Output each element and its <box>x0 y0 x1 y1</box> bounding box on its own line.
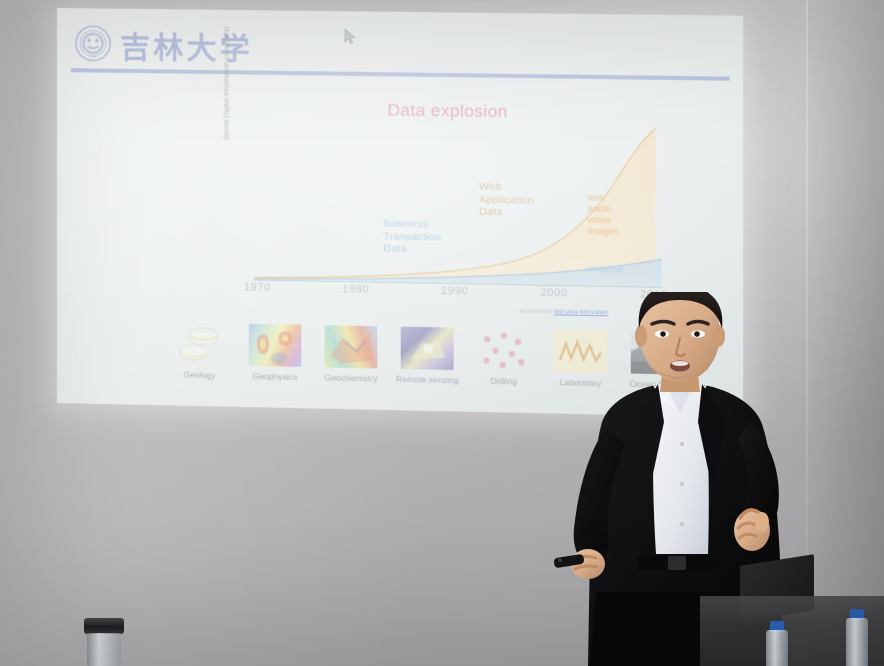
annotation-business-transaction-data: BusinessTransactionData <box>383 217 441 256</box>
annotation-relational: relational <box>588 263 623 276</box>
ear-left <box>635 325 647 347</box>
shirt-button <box>680 482 684 486</box>
data-explosion-chart: Data explosion Stored Digital Informatio… <box>230 96 668 320</box>
thumbnail-geology: Geology <box>169 322 229 397</box>
mouse-pointer-icon <box>344 28 356 46</box>
bottle-body <box>766 630 788 666</box>
svg-text:JLU: JLU <box>90 55 97 59</box>
thumbnail-remote-sensing: Remote sensing <box>397 326 458 402</box>
drilling-dots-icon <box>477 328 530 372</box>
header-divider <box>71 68 730 81</box>
annotation-media-types: textaudiovideoimages <box>588 192 619 237</box>
hand-right <box>734 509 770 551</box>
jilin-university-seal-icon: JLU <box>74 24 112 62</box>
thumbnail-geophysics: Geophysics <box>245 324 306 400</box>
slide-header: JLU 吉林大学 <box>57 8 743 83</box>
ear-right <box>713 325 725 347</box>
chart-y-axis-label: Stored Digital Information (exabytes) <box>224 8 231 141</box>
x-tick-1990: 1990 <box>441 285 468 298</box>
thumbnail-label: Geochemistry <box>324 372 377 383</box>
bottle-body <box>846 618 868 666</box>
belt-buckle <box>668 556 686 570</box>
geology-strata-icon <box>173 322 225 365</box>
thumbnail-label: Geology <box>183 370 215 381</box>
x-tick-1970: 1970 <box>244 281 271 294</box>
university-name: 吉林大学 <box>120 23 253 69</box>
thumbnail-geochemistry: Geochemistry <box>321 325 382 401</box>
geochemistry-map-icon <box>325 325 378 368</box>
water-bottle[interactable] <box>766 630 788 666</box>
water-bottle[interactable] <box>846 618 868 666</box>
drinking-glass[interactable] <box>84 618 124 666</box>
thumbnail-label: Geophysics <box>253 371 298 382</box>
thumbnail-label: Drilling <box>490 376 517 387</box>
satellite-image-icon <box>401 327 454 370</box>
thumbnail-label: Remote sensing <box>396 374 459 385</box>
glass-body <box>87 633 121 666</box>
x-tick-1980: 1980 <box>342 283 369 296</box>
glass-lid <box>84 618 124 634</box>
shirt-button <box>680 522 684 526</box>
thumbnail-drilling: Drilling <box>473 328 534 404</box>
geophysics-wavefield-icon <box>249 324 302 367</box>
lecture-room-scene: JLU 吉林大学 Data explosion Stored Digital I… <box>0 0 884 666</box>
annotation-web-application-data: WebApplicationData <box>479 181 534 220</box>
shirt-button <box>680 442 684 446</box>
